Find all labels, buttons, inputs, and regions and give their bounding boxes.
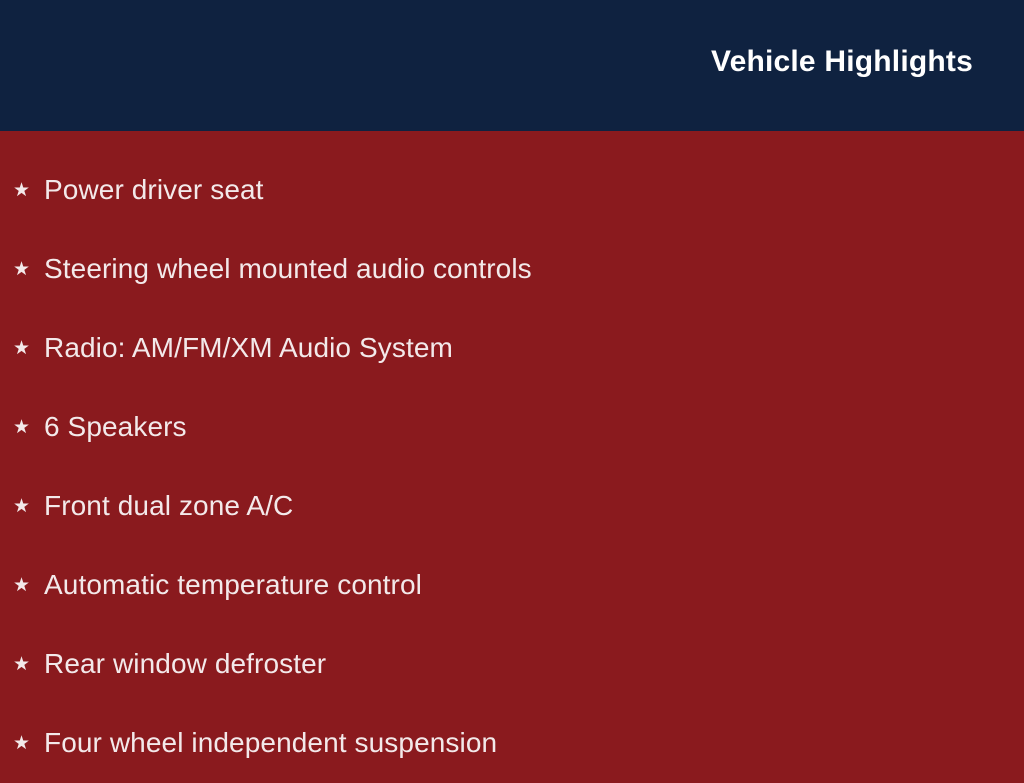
list-item: ★ Rear window defroster [0, 625, 1024, 704]
features-panel: ★ Power driver seat ★ Steering wheel mou… [0, 131, 1024, 768]
list-item-label: Power driver seat [31, 175, 1024, 206]
star-bullet-icon: ★ [0, 418, 31, 437]
star-bullet-icon: ★ [0, 260, 31, 279]
star-bullet-icon: ★ [0, 734, 31, 753]
list-item-label: Four wheel independent suspension [31, 728, 1024, 759]
list-item: ★ Power driver seat [0, 151, 1024, 230]
star-bullet-icon: ★ [0, 339, 31, 358]
list-item-label: 6 Speakers [31, 412, 1024, 443]
star-bullet-icon: ★ [0, 181, 31, 200]
list-item-label: Radio: AM/FM/XM Audio System [31, 333, 1024, 364]
list-item-label: Front dual zone A/C [31, 491, 1024, 522]
list-item: ★ 6 Speakers [0, 388, 1024, 467]
list-item-label: Steering wheel mounted audio controls [31, 254, 1024, 285]
list-item-label: Automatic temperature control [31, 570, 1024, 601]
star-bullet-icon: ★ [0, 497, 31, 516]
list-item: ★ Front dual zone A/C [0, 467, 1024, 546]
list-item: ★ Radio: AM/FM/XM Audio System [0, 309, 1024, 388]
vehicle-highlights-slide: Vehicle Highlights ★ Power driver seat ★… [0, 0, 1024, 768]
list-item: ★ Four wheel independent suspension [0, 704, 1024, 783]
list-item: ★ Automatic temperature control [0, 546, 1024, 625]
header-bar: Vehicle Highlights [0, 0, 1024, 131]
list-item-label: Rear window defroster [31, 649, 1024, 680]
vehicle-highlights-list: ★ Power driver seat ★ Steering wheel mou… [0, 151, 1024, 783]
star-bullet-icon: ★ [0, 655, 31, 674]
page-title: Vehicle Highlights [711, 47, 973, 77]
list-item: ★ Steering wheel mounted audio controls [0, 230, 1024, 309]
star-bullet-icon: ★ [0, 576, 31, 595]
